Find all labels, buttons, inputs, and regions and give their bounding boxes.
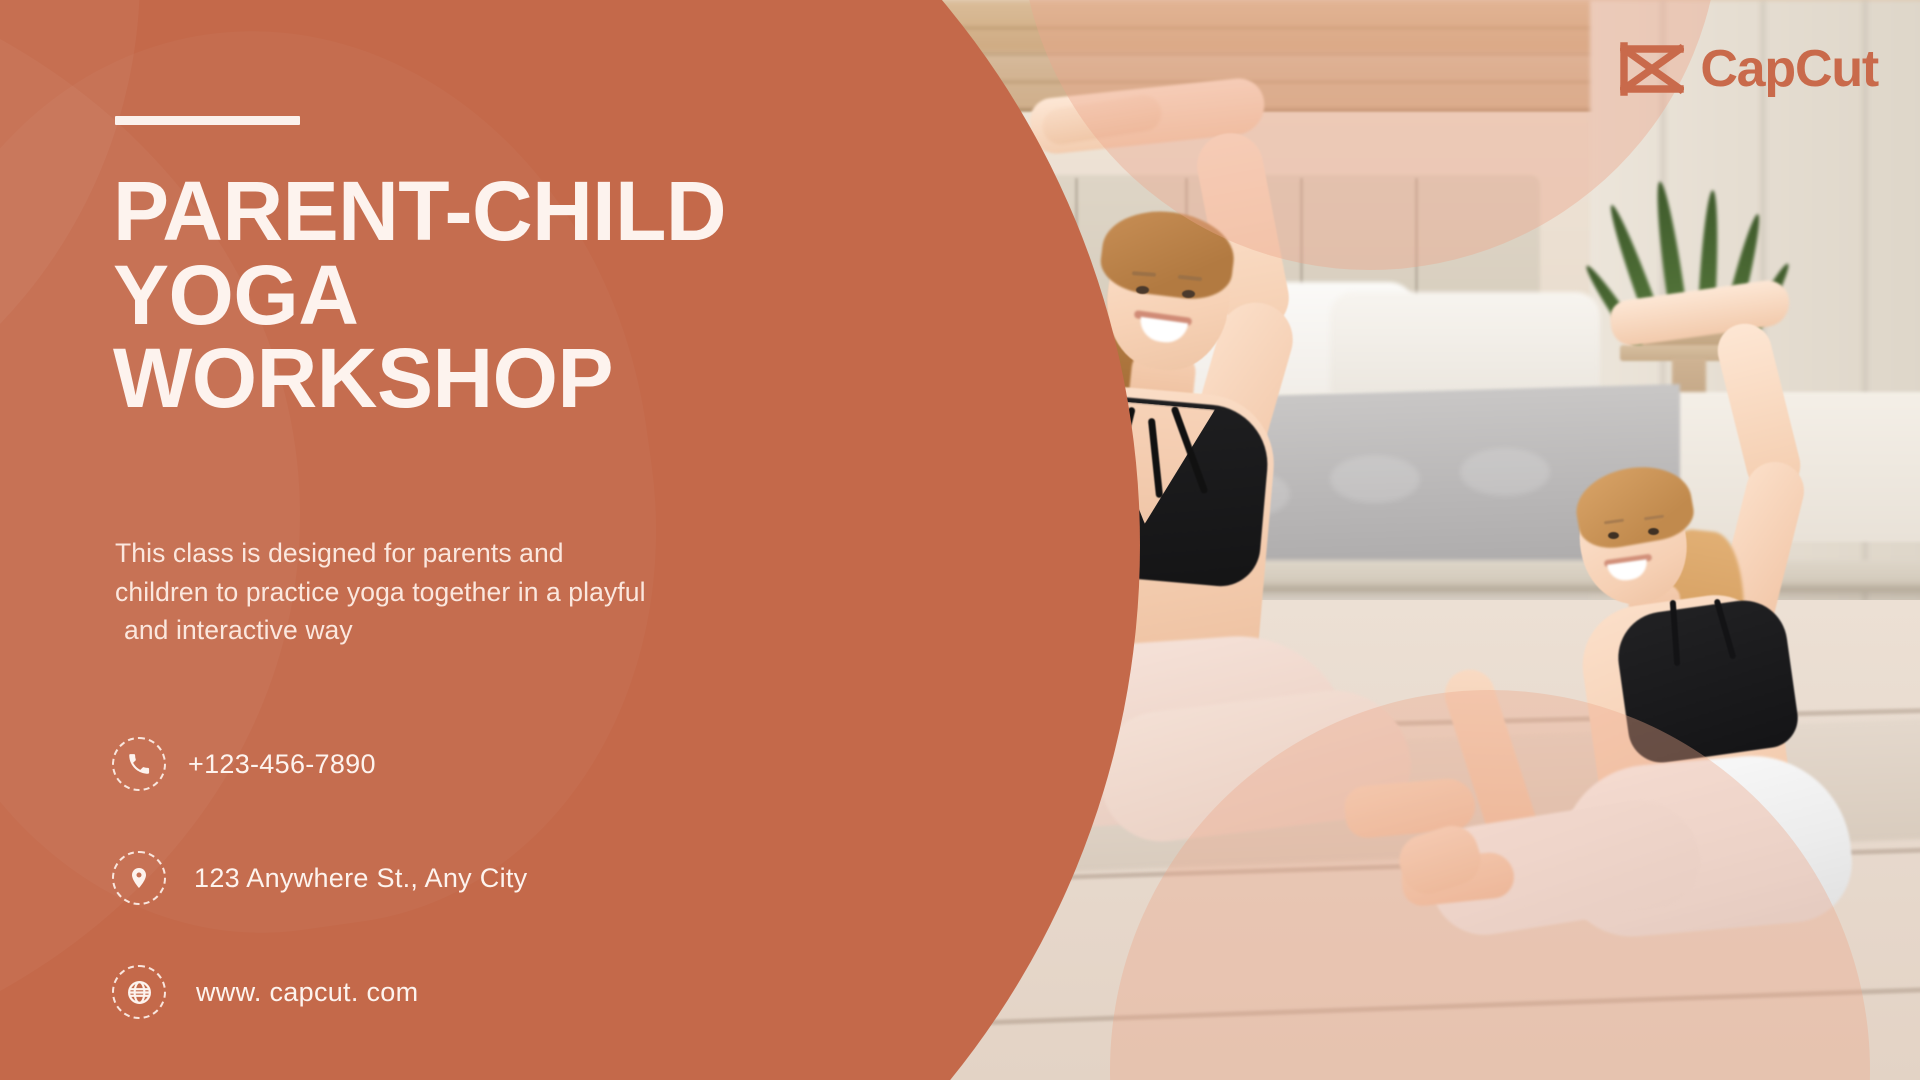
contact-list: +123-456-7890 123 Anywhere St., Any City <box>112 736 812 1078</box>
headline-line-1: PARENT-CHILD <box>113 170 873 254</box>
description-line-3: and interactive way <box>115 611 835 650</box>
left-content-panel: PARENT-CHILD YOGA WORKSHOP This class is… <box>0 0 860 1080</box>
description-line-1: This class is designed for parents and <box>115 534 835 573</box>
phone-number: +123-456-7890 <box>188 749 376 780</box>
capcut-wordmark: CapCut <box>1700 43 1878 95</box>
woman-eye <box>1136 286 1149 294</box>
location-pin-icon <box>112 851 166 905</box>
phone-icon <box>112 737 166 791</box>
description-line-2: children to practice yoga together in a … <box>115 573 835 612</box>
street-address: 123 Anywhere St., Any City <box>194 863 527 894</box>
description-text: This class is designed for parents and c… <box>115 534 835 650</box>
contact-row-website[interactable]: www. capcut. com <box>112 964 812 1020</box>
poster-canvas: PARENT-CHILD YOGA WORKSHOP This class is… <box>0 0 1920 1080</box>
contact-row-address[interactable]: 123 Anywhere St., Any City <box>112 850 812 906</box>
girl-eye <box>1648 528 1659 535</box>
page-title: PARENT-CHILD YOGA WORKSHOP <box>113 170 873 421</box>
website-url: www. capcut. com <box>196 977 418 1008</box>
blanket-quilt-dot <box>1330 455 1420 503</box>
headline-line-3: WORKSHOP <box>113 337 873 421</box>
girl-eye <box>1608 532 1619 539</box>
capcut-logo[interactable]: CapCut <box>1620 42 1878 96</box>
contact-row-phone[interactable]: +123-456-7890 <box>112 736 812 792</box>
globe-icon <box>112 965 166 1019</box>
blanket-quilt-dot <box>1460 448 1550 496</box>
decorative-rule <box>115 116 300 125</box>
headline-line-2: YOGA <box>113 254 873 338</box>
capcut-bowtie-icon <box>1620 42 1684 96</box>
woman-eye <box>1182 290 1195 298</box>
